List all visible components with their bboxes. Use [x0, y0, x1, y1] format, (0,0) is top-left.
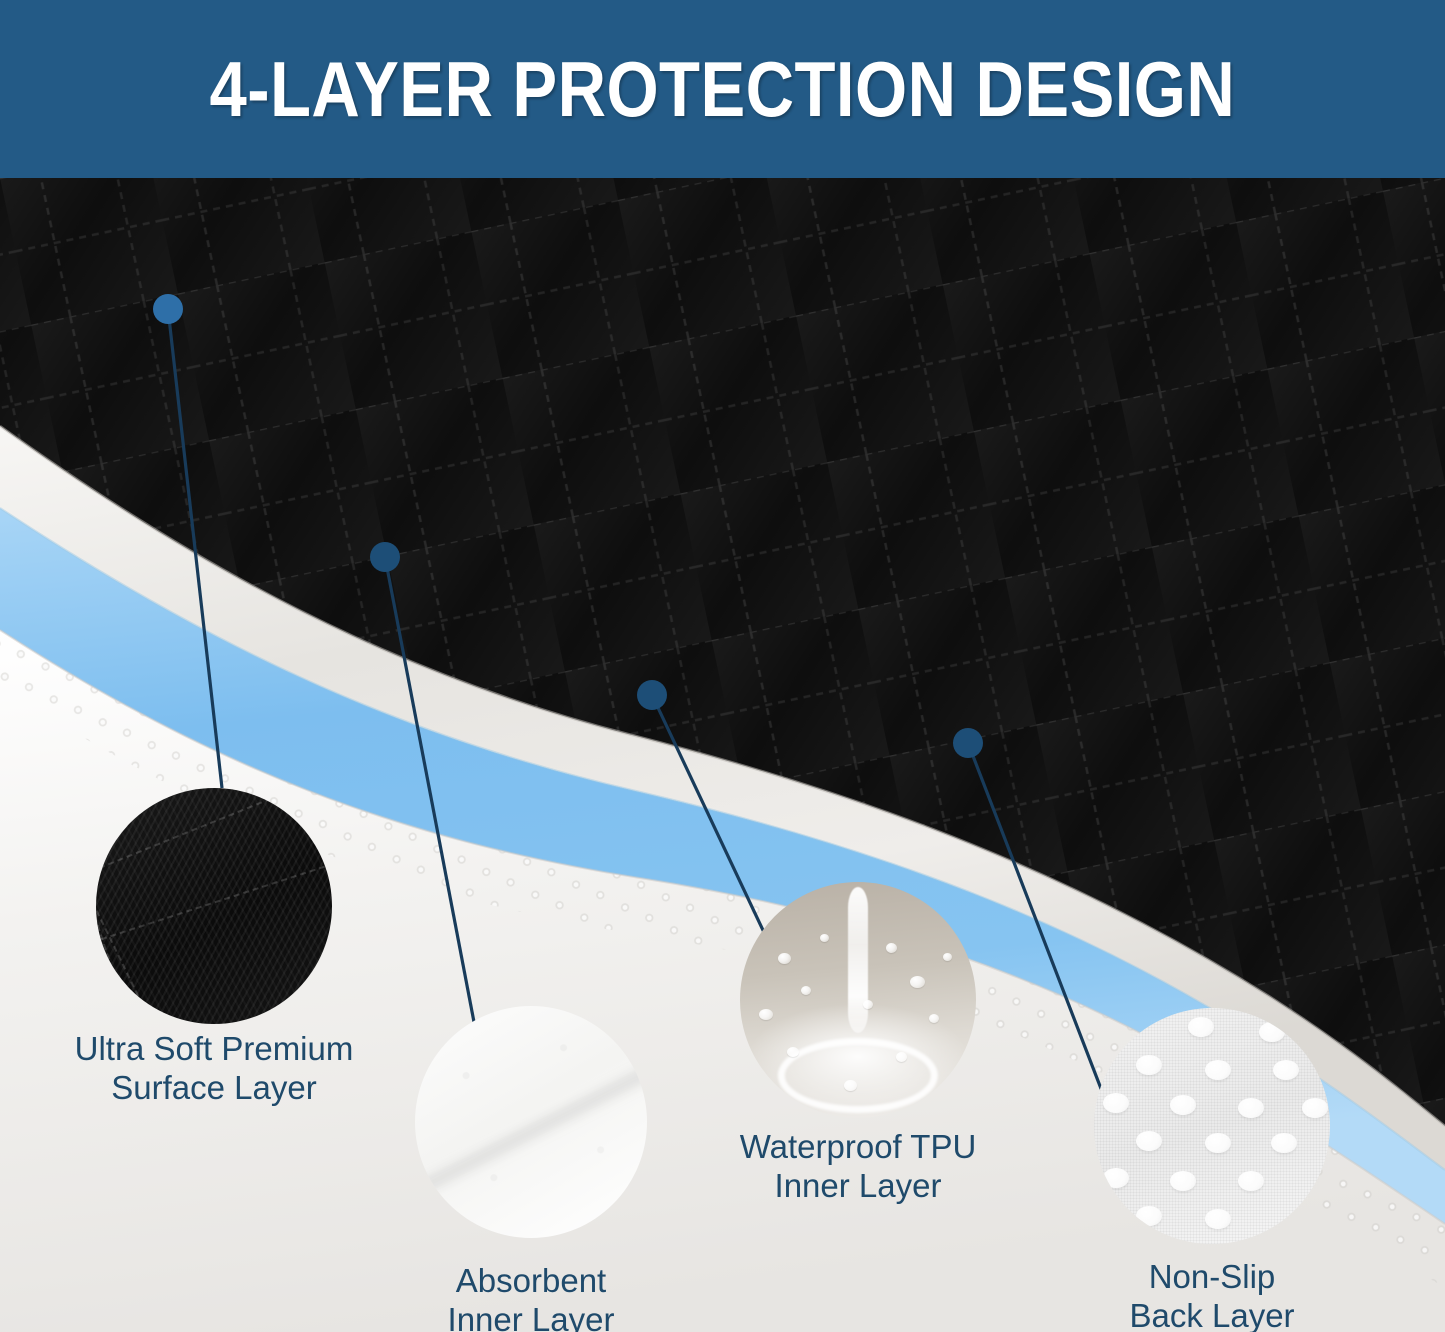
swatch-ultra-soft-surface	[96, 788, 332, 1024]
infographic-root: 4-LAYER PROTECTION DESIGN	[0, 0, 1445, 1332]
label-non-slip-back: Non-Slip Back Layer	[1129, 1258, 1294, 1332]
swatch-absorbent-inner	[415, 1006, 647, 1238]
marker-dot-absorbent[interactable]	[370, 542, 400, 572]
marker-dot-surface[interactable]	[153, 294, 183, 324]
label-line-1: Ultra Soft Premium	[75, 1030, 354, 1069]
swatch-waterproof-tpu	[740, 882, 976, 1118]
label-line-2: Back Layer	[1129, 1297, 1294, 1332]
label-line-2: Inner Layer	[448, 1301, 615, 1332]
label-line-1: Non-Slip	[1129, 1258, 1294, 1297]
swatch-non-slip-back	[1094, 1008, 1330, 1244]
marker-dot-waterproof[interactable]	[637, 680, 667, 710]
header-banner: 4-LAYER PROTECTION DESIGN	[0, 0, 1445, 178]
label-ultra-soft-surface: Ultra Soft Premium Surface Layer	[75, 1030, 354, 1108]
label-line-2: Surface Layer	[75, 1069, 354, 1108]
label-waterproof-tpu: Waterproof TPU Inner Layer	[740, 1128, 977, 1206]
page-title: 4-LAYER PROTECTION DESIGN	[210, 50, 1236, 128]
marker-dot-nonslip[interactable]	[953, 728, 983, 758]
label-line-1: Absorbent	[448, 1262, 615, 1301]
label-line-2: Inner Layer	[740, 1167, 977, 1206]
label-line-1: Waterproof TPU	[740, 1128, 977, 1167]
label-absorbent-inner: Absorbent Inner Layer	[448, 1262, 615, 1332]
